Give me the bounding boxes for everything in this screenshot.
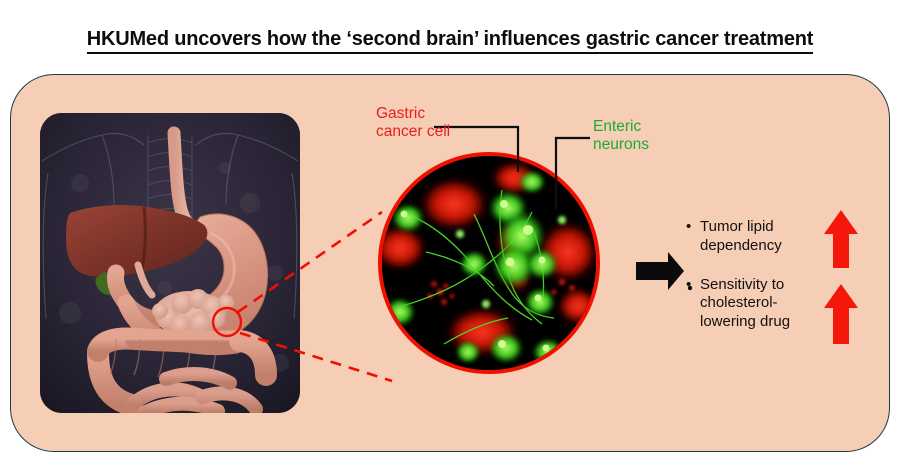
label-enteric-neurons: Enteric neurons <box>593 118 649 155</box>
bullet-glyph-1: • <box>686 218 700 237</box>
label-gastric-line1: Gastric <box>376 105 450 123</box>
label-enteric-line2: neurons <box>593 136 649 154</box>
label-gastric-line2: cancer cell <box>376 123 450 141</box>
label-gastric-cancer-cell: Gastric cancer cell <box>376 105 450 142</box>
page-title-text: HKUMed uncovers how the ‘second brain’ i… <box>87 28 814 54</box>
outcome-text-1: Tumor lipid dependency <box>700 218 816 256</box>
bullet-glyph-2: • <box>686 276 700 295</box>
outcome-item-1: • Tumor lipid dependency <box>686 218 816 256</box>
micrograph-circle <box>378 152 600 374</box>
outcomes-list: • Tumor lipid dependency • Sensitivity t… <box>686 218 816 352</box>
infographic-root: HKUMed uncovers how the ‘second brain’ i… <box>0 0 900 474</box>
outcome-item-2: • Sensitivity to cholesterol-lowering dr… <box>686 276 816 332</box>
outcome-text-2: Sensitivity to cholesterol-lowering drug <box>700 276 816 332</box>
anatomy-illustration <box>40 113 300 413</box>
label-enteric-line1: Enteric <box>593 118 649 136</box>
page-title: HKUMed uncovers how the ‘second brain’ i… <box>0 28 900 51</box>
